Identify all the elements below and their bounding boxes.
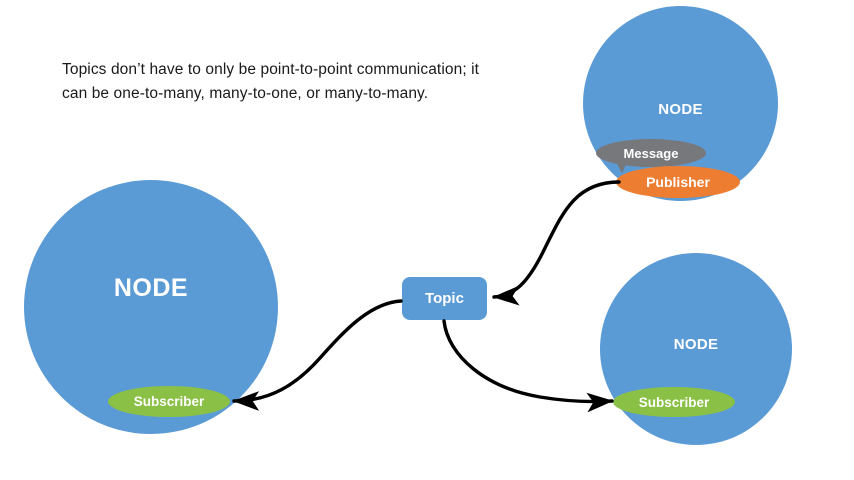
arrow-publisher-to-topic: [494, 182, 619, 297]
node-left-label: NODE: [24, 274, 278, 303]
message-label: Message: [596, 139, 706, 167]
node-bottom-right-label: NODE: [600, 336, 792, 353]
publisher[interactable]: Publisher: [616, 166, 740, 198]
subscriber-right[interactable]: Subscriber: [613, 387, 735, 417]
arrow-topic-to-right-subscriber: [444, 321, 612, 402]
caption-text: Topics don’t have to only be point-to-po…: [62, 58, 482, 105]
node-top-right-label: NODE: [583, 101, 778, 118]
diagram-canvas: Topics don’t have to only be point-to-po…: [0, 0, 854, 480]
subscriber-left[interactable]: Subscriber: [108, 386, 230, 417]
topic-box[interactable]: Topic: [402, 277, 487, 320]
node-bottom-right[interactable]: NODE: [600, 253, 792, 445]
